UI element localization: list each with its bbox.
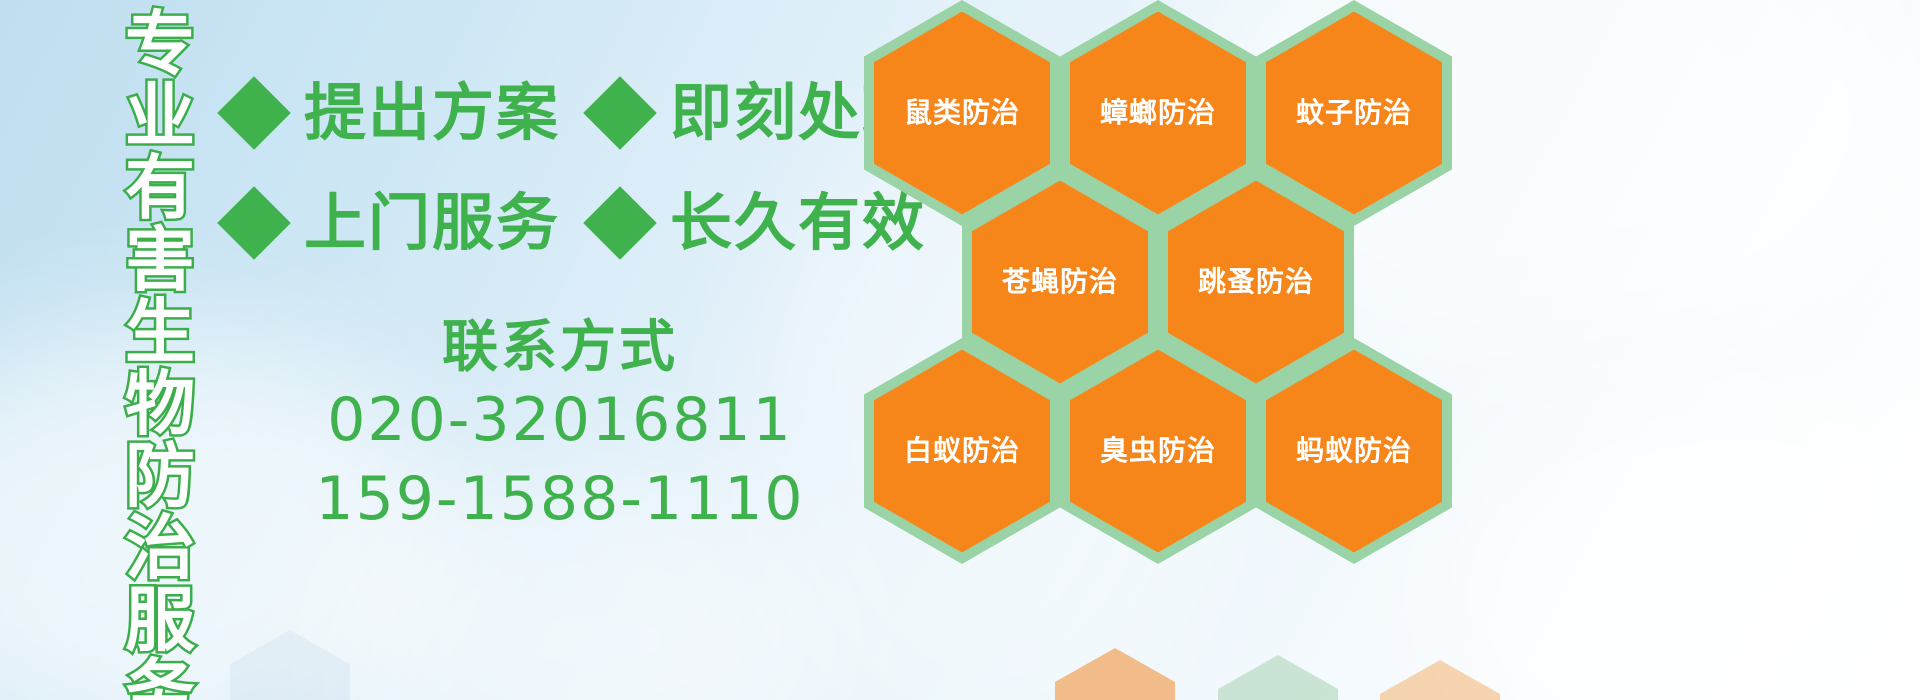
contact-block: 联系方式 020-32016811 159-1588-1110 xyxy=(300,315,820,539)
hex-inner: 蚂蚁防治 xyxy=(1266,350,1442,553)
vertical-title-char: 防 xyxy=(125,440,195,512)
service-label: 蟑螂防治 xyxy=(1100,99,1216,127)
feature-row-2: 上门服务 长久有效 xyxy=(228,192,926,254)
vertical-title-char: 害 xyxy=(125,224,195,296)
vertical-title-char: 服 xyxy=(125,584,195,656)
hex-inner: 蚊子防治 xyxy=(1266,12,1442,215)
vertical-title-char: 业 xyxy=(125,80,195,152)
feature-label-propose-plan: 提出方案 xyxy=(304,82,560,144)
service-label: 蚂蚁防治 xyxy=(1296,437,1412,465)
decorative-hexagon xyxy=(1218,655,1338,700)
service-label: 苍蝇防治 xyxy=(1002,268,1118,296)
diamond-bullet-icon xyxy=(583,186,657,260)
vertical-title-char: 治 xyxy=(125,512,195,584)
vertical-title-char: 物 xyxy=(125,368,195,440)
service-label: 跳蚤防治 xyxy=(1198,268,1314,296)
decorative-hexagon xyxy=(1055,648,1175,700)
diamond-bullet-icon xyxy=(217,76,291,150)
service-label: 鼠类防治 xyxy=(904,99,1020,127)
service-honeycomb: 鼠类防治 蟑螂防治 蚊子防治 苍蝇防治 跳蚤防治 白蚁防治 xyxy=(856,0,1476,588)
service-label: 蚊子防治 xyxy=(1296,99,1412,127)
vertical-title: 专 业 有 害 生 物 防 治 服 务 xyxy=(112,8,208,668)
pest-control-banner: 专 业 有 害 生 物 防 治 服 务 提出方案 即刻处理 上门服务 长久有效 … xyxy=(0,0,1920,700)
service-label: 白蚁防治 xyxy=(904,437,1020,465)
background-light-blob xyxy=(1430,380,1920,700)
decorative-hexagon xyxy=(1380,660,1500,700)
hex-inner: 苍蝇防治 xyxy=(972,181,1148,384)
diamond-bullet-icon xyxy=(217,186,291,260)
service-label: 臭虫防治 xyxy=(1100,437,1216,465)
decorative-hexagon xyxy=(230,630,350,700)
feature-row-1: 提出方案 即刻处理 xyxy=(228,82,926,144)
vertical-title-char: 有 xyxy=(125,152,195,224)
hex-inner: 跳蚤防治 xyxy=(1168,181,1344,384)
vertical-title-char: 专 xyxy=(125,8,195,80)
phone-landline[interactable]: 020-32016811 xyxy=(300,381,820,460)
diamond-bullet-icon xyxy=(583,76,657,150)
hex-inner: 白蚁防治 xyxy=(874,350,1050,553)
contact-heading: 联系方式 xyxy=(300,315,820,381)
feature-label-onsite-service: 上门服务 xyxy=(304,192,560,254)
hex-inner: 蟑螂防治 xyxy=(1070,12,1246,215)
phone-mobile[interactable]: 159-1588-1110 xyxy=(300,460,820,539)
hex-inner: 鼠类防治 xyxy=(874,12,1050,215)
hex-inner: 臭虫防治 xyxy=(1070,350,1246,553)
vertical-title-char: 生 xyxy=(125,296,195,368)
vertical-title-char: 务 xyxy=(125,656,195,700)
